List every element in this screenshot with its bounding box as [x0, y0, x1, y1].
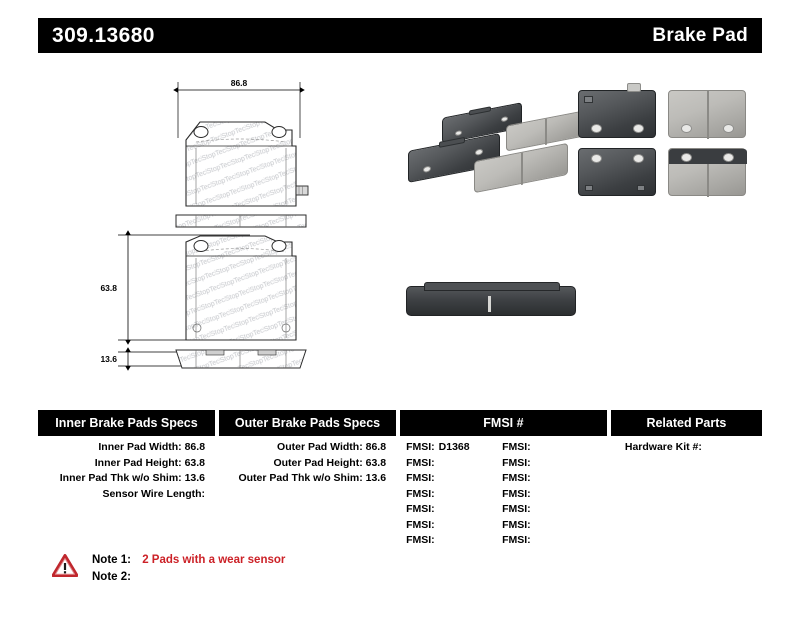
dimension-width-label: 86.8	[231, 78, 248, 88]
page-title: Brake Pad	[652, 25, 748, 47]
spec-line: Inner Pad Width: 86.8	[38, 440, 205, 456]
spec-line: Outer Pad Height: 63.8	[219, 456, 386, 472]
fmsi-row: FMSI:	[406, 487, 502, 503]
fmsi-value	[531, 519, 535, 531]
mounting-hole-icon	[475, 148, 483, 156]
fmsi-row: FMSI:	[502, 471, 598, 487]
specifications-table: Inner Brake Pads Specs Outer Brake Pads …	[38, 410, 762, 549]
fmsi-row: FMSI:	[406, 456, 502, 472]
column-header-inner-specs: Inner Brake Pads Specs	[38, 410, 215, 436]
drawing-bottom-face-view: 63.8 13.6	[100, 235, 306, 368]
plate-stamp	[584, 96, 593, 103]
mounting-hole-icon	[423, 165, 431, 173]
fmsi-label: FMSI:	[406, 441, 435, 453]
fmsi-row: FMSI:	[406, 502, 502, 518]
related-part-line: Hardware Kit #:	[611, 440, 762, 456]
wear-sensor-tab	[627, 83, 641, 92]
note-2-row: Note 2:	[92, 569, 285, 586]
fmsi-label: FMSI:	[406, 503, 435, 515]
photo-flat-pad-grid	[578, 82, 750, 200]
pad-center-slot	[521, 153, 523, 185]
fmsi-row: FMSI:	[406, 471, 502, 487]
notes-section: Note 1: 2 Pads with a wear sensor Note 2…	[52, 552, 285, 586]
mounting-hole-icon	[723, 124, 734, 133]
fmsi-label: FMSI:	[502, 457, 531, 469]
plate-stamp	[637, 185, 645, 191]
fmsi-label: FMSI:	[406, 488, 435, 500]
photo-grid-backing-top	[578, 90, 656, 138]
fmsi-label: FMSI:	[502, 441, 531, 453]
spec-line: Outer Pad Width: 86.8	[219, 440, 386, 456]
fmsi-row: FMSI:	[502, 456, 598, 472]
photo-grid-backing-bottom	[578, 148, 656, 196]
fmsi-row: FMSI:	[502, 518, 598, 534]
fmsi-label: FMSI:	[406, 457, 435, 469]
pad-center-slot	[545, 119, 547, 145]
inner-specs-cell: Inner Pad Width: 86.8 Inner Pad Height: …	[38, 440, 215, 549]
column-header-fmsi: FMSI #	[400, 410, 607, 436]
fmsi-value	[531, 488, 535, 500]
photo-pad-edge-profile	[402, 272, 580, 328]
fmsi-label: FMSI:	[406, 519, 435, 531]
fmsi-row: FMSI:	[502, 533, 598, 549]
fmsi-row: FMSI:	[502, 502, 598, 518]
pad-ear	[469, 106, 491, 115]
fmsi-row: FMSI:	[406, 518, 502, 534]
fmsi-value	[531, 457, 535, 469]
mounting-hole-icon	[681, 153, 692, 162]
mounting-hole-icon	[633, 124, 644, 133]
spec-line: Outer Pad Thk w/o Shim: 13.6	[219, 471, 386, 487]
photo-grid-friction-top	[668, 90, 746, 138]
note-lines: Note 1: 2 Pads with a wear sensor Note 2…	[92, 552, 285, 586]
fmsi-row: FMSI:	[502, 440, 598, 456]
fmsi-value	[531, 472, 535, 484]
fmsi-label: FMSI:	[502, 519, 531, 531]
photo-angled-pad-group	[398, 82, 568, 200]
fmsi-value	[531, 503, 535, 515]
dimension-thickness-label: 13.6	[100, 354, 117, 364]
fmsi-label: FMSI:	[406, 472, 435, 484]
note-1-text: 2 Pads with a wear sensor	[142, 554, 285, 566]
mounting-hole-icon	[591, 154, 602, 163]
fmsi-value	[435, 534, 439, 546]
part-number: 309.13680	[52, 24, 155, 48]
mounting-hole-icon	[723, 153, 734, 162]
fmsi-value	[531, 441, 535, 453]
fmsi-row: FMSI:D1368	[406, 440, 502, 456]
pad-center-slot	[707, 164, 709, 197]
table-header-row: Inner Brake Pads Specs Outer Brake Pads …	[38, 410, 762, 436]
fmsi-value	[435, 503, 439, 515]
warning-icon	[52, 552, 82, 582]
note-1-row: Note 1: 2 Pads with a wear sensor	[92, 552, 285, 569]
pad-edge-shoulder	[424, 282, 560, 291]
fmsi-value	[435, 488, 439, 500]
fmsi-label: FMSI:	[502, 472, 531, 484]
mounting-hole-icon	[501, 116, 508, 122]
fmsi-value	[531, 534, 535, 546]
fmsi-label: FMSI:	[502, 534, 531, 546]
related-parts-cell: Hardware Kit #:	[611, 440, 762, 549]
fmsi-label: FMSI:	[502, 488, 531, 500]
fmsi-label: FMSI:	[406, 534, 435, 546]
photo-grid-friction-bottom	[668, 148, 746, 196]
header-bar: 309.13680 Brake Pad	[38, 18, 762, 53]
fmsi-label: FMSI:	[502, 503, 531, 515]
column-header-outer-specs: Outer Brake Pads Specs	[219, 410, 396, 436]
spec-line: Inner Pad Height: 63.8	[38, 456, 205, 472]
mounting-hole-icon	[591, 124, 602, 133]
fmsi-cell: FMSI:D1368 FMSI: FMSI: FMSI: FMSI: FMSI:…	[400, 440, 607, 549]
table-body-row: Inner Pad Width: 86.8 Inner Pad Height: …	[38, 440, 762, 549]
illustration-area: StopTech 86.8	[0, 60, 800, 390]
fmsi-value	[435, 519, 439, 531]
fmsi-value	[435, 457, 439, 469]
note-1-label: Note 1:	[92, 554, 131, 566]
dimension-height-label: 63.8	[100, 283, 117, 293]
column-header-related-parts: Related Parts	[611, 410, 762, 436]
mounting-hole-icon	[681, 124, 692, 133]
mounting-hole-icon	[633, 154, 644, 163]
fmsi-row: FMSI:	[502, 487, 598, 503]
drawing-top-face-view: 86.8	[176, 78, 308, 227]
spec-line: Sensor Wire Length:	[38, 487, 205, 503]
fmsi-value	[435, 472, 439, 484]
fmsi-row: FMSI:	[406, 533, 502, 549]
fmsi-column-left: FMSI:D1368 FMSI: FMSI: FMSI: FMSI: FMSI:…	[406, 440, 502, 549]
fmsi-value: D1368	[435, 441, 470, 453]
note-2-label: Note 2:	[92, 571, 131, 583]
mounting-hole-icon	[455, 130, 462, 136]
engineering-drawing: StopTech 86.8	[0, 60, 400, 390]
pad-center-slot	[488, 296, 491, 312]
fmsi-column-right: FMSI: FMSI: FMSI: FMSI: FMSI: FMSI: FMSI…	[502, 440, 598, 549]
spec-line: Inner Pad Thk w/o Shim: 13.6	[38, 471, 205, 487]
plate-stamp	[585, 185, 593, 191]
pad-center-slot	[707, 91, 709, 139]
outer-specs-cell: Outer Pad Width: 86.8 Outer Pad Height: …	[219, 440, 396, 549]
